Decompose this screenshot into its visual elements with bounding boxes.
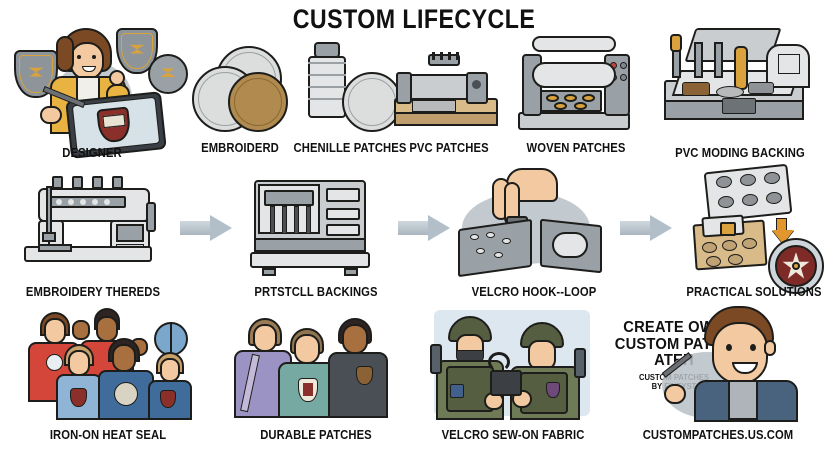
label-iron-on-heat-seal: IRON-ON HEAT SEAL [29, 428, 187, 442]
label-pvc-patches: PVC PATCHES [391, 141, 508, 155]
label-durable-patches: DURABLE PATCHES [246, 428, 386, 442]
round-patches-illustration [190, 44, 290, 136]
molding-machine-illustration [660, 24, 820, 136]
three-people-group-illustration [228, 312, 392, 420]
flow-arrow-icon [398, 215, 450, 241]
label-website: CUSTOMPATCHES.US.COM [628, 428, 808, 442]
badge-icon [148, 54, 188, 94]
hand-velcro-illustration [448, 172, 616, 276]
designer-illustration [6, 22, 186, 137]
label-embroidery-thereds: EMBROIDERY THEREDS [17, 285, 170, 299]
industrial-backing-machine-illustration [248, 174, 378, 278]
label-velcro-sew-on-fabric: VELCRO SEW-ON FABRIC [429, 428, 596, 442]
label-woven-patches: WOVEN PATCHES [515, 141, 637, 155]
label-practical-solutions: PRACTICAL SOLUTIONS [673, 285, 828, 299]
label-pvc-moding-backing: PVC MODING BACKING [661, 146, 819, 160]
sewing-machine-illustration [16, 174, 172, 274]
roller-press-machine-illustration [516, 32, 634, 136]
mold-trays-badge-illustration [676, 166, 828, 278]
thread-spool-patch-illustration [300, 40, 400, 136]
sports-team-group-illustration [18, 308, 198, 420]
flow-arrow-icon [180, 215, 232, 241]
flow-arrow-icon [620, 215, 672, 241]
label-designer: DESIGNER [29, 146, 155, 160]
pvc-press-machine-illustration [392, 52, 504, 136]
smiling-man-illustration [660, 306, 828, 420]
infographic-canvas: CUSTOM LIFECYCLE DESIGNER EMBROIDERD [0, 0, 828, 452]
label-velcro-hook-loop: VELCRO HOOK--LOOP [455, 285, 613, 299]
label-prtstcll-backings: PRTSTCLL BACKINGS [246, 285, 386, 299]
two-soldiers-illustration [428, 308, 596, 420]
